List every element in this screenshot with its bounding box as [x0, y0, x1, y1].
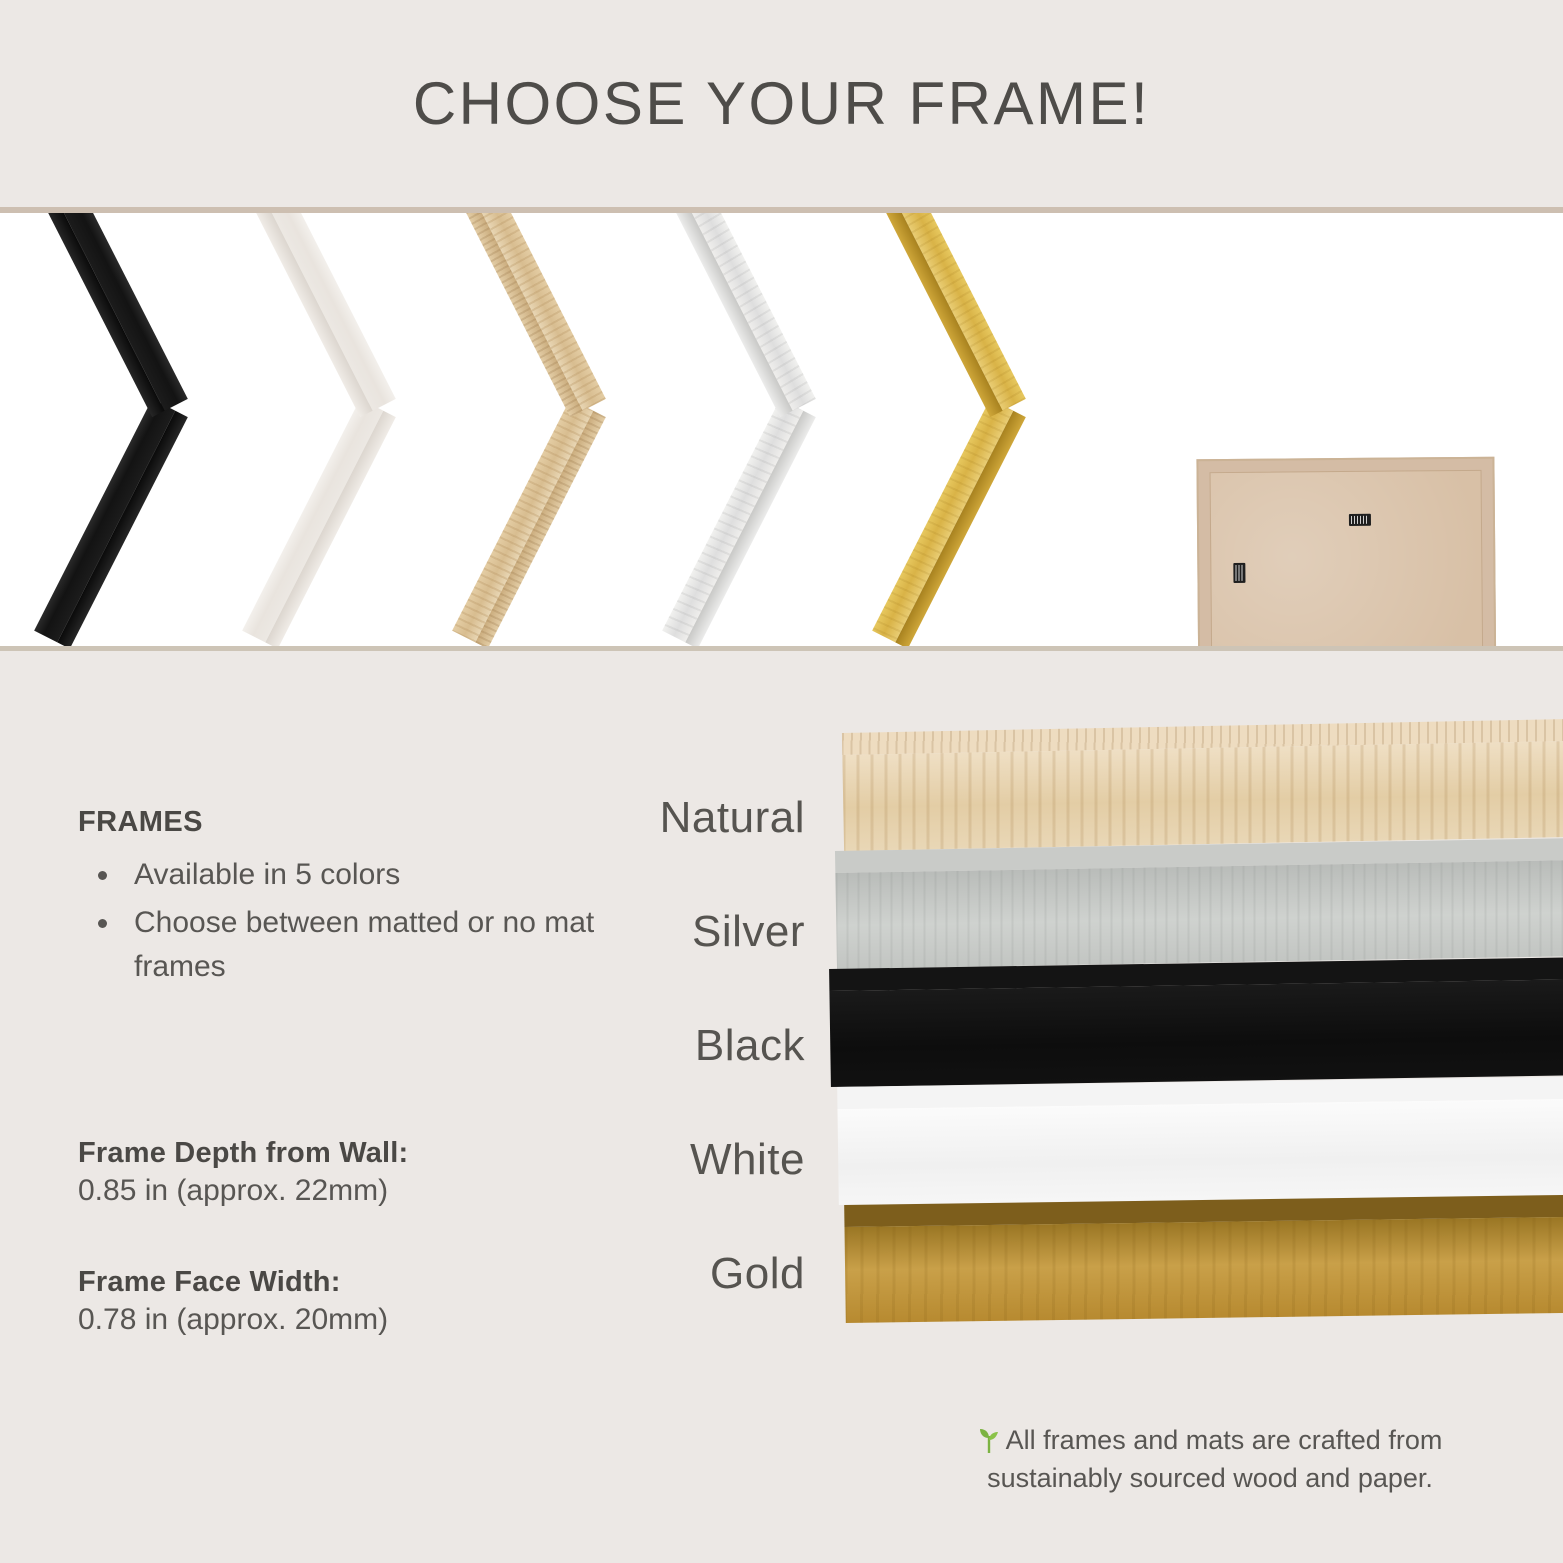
strip-front-face	[844, 1216, 1563, 1323]
sustainability-line-2: sustainably sourced wood and paper.	[987, 1463, 1433, 1493]
leaf-sprout-icon	[978, 1427, 1000, 1453]
leg-side	[475, 411, 606, 649]
moulding-strip-stack	[820, 733, 1563, 1403]
details-section: FRAMES Available in 5 colors Choose betw…	[0, 651, 1563, 1563]
spec-frame-depth: Frame Depth from Wall: 0.85 in (approx. …	[78, 1137, 598, 1208]
moulding-strip-silver[interactable]	[835, 838, 1563, 969]
corner-leg-lower	[34, 213, 188, 417]
color-label-black: Black	[560, 989, 805, 1103]
spec-label: Frame Face Width:	[78, 1266, 598, 1299]
frames-info-block: FRAMES Available in 5 colors Choose betw…	[78, 806, 598, 993]
list-item-label: Available in 5 colors	[134, 858, 400, 891]
strip-front-face	[842, 740, 1563, 851]
leg-side	[685, 411, 816, 649]
leg-side	[57, 411, 188, 649]
leg-side	[265, 411, 396, 649]
frames-heading: FRAMES	[78, 806, 598, 839]
strip-front-face	[837, 1098, 1563, 1205]
color-label-column: Natural Silver Black White Gold	[560, 761, 805, 1331]
frame-corner-samples	[0, 213, 1563, 650]
strip-front-face	[835, 860, 1563, 969]
line-1-wrapper: All frames and mats are crafted from	[978, 1425, 1443, 1455]
color-label-white: White	[560, 1103, 805, 1217]
leg-face	[34, 399, 175, 642]
corner-sample-black[interactable]	[60, 213, 280, 650]
corner-sample-natural[interactable]	[478, 213, 698, 650]
strip-front-face	[829, 979, 1563, 1087]
corner-sample-white[interactable]	[268, 213, 488, 650]
leg-side	[895, 411, 1026, 649]
page-title: CHOOSE YOUR FRAME!	[413, 69, 1150, 138]
list-item-label: Choose between matted or no mat frames	[134, 906, 594, 983]
sustainability-note: All frames and mats are crafted from sus…	[900, 1421, 1520, 1498]
sawtooth-hanger-icon	[1349, 514, 1371, 526]
spec-frame-face-width: Frame Face Width: 0.78 in (approx. 20mm)	[78, 1266, 598, 1337]
header-banner: CHOOSE YOUR FRAME!	[0, 0, 1563, 207]
corner-sample-silver[interactable]	[688, 213, 908, 650]
color-label-natural: Natural	[560, 761, 805, 875]
moulding-strip-black[interactable]	[829, 957, 1563, 1087]
list-item: Available in 5 colors	[78, 853, 598, 897]
color-label-gold: Gold	[560, 1217, 805, 1331]
frame-back-panel[interactable]	[1196, 457, 1497, 650]
bullet-dot-icon	[98, 871, 107, 880]
corner-sample-gold[interactable]	[898, 213, 1118, 650]
spec-value: 0.85 in (approx. 22mm)	[78, 1174, 598, 1208]
moulding-strip-gold[interactable]	[844, 1194, 1563, 1323]
spec-value: 0.78 in (approx. 20mm)	[78, 1303, 598, 1337]
hanger-bracket-icon	[1233, 563, 1245, 583]
moulding-strip-white[interactable]	[837, 1076, 1563, 1205]
sustainability-line-1: All frames and mats are crafted from	[1006, 1425, 1443, 1455]
list-item: Choose between matted or no mat frames	[78, 901, 598, 989]
corner-leg-upper	[34, 399, 188, 649]
frames-bullet-list: Available in 5 colors Choose between mat…	[78, 853, 598, 989]
bullet-dot-icon	[98, 919, 107, 928]
moulding-strip-natural[interactable]	[842, 718, 1563, 851]
color-label-silver: Silver	[560, 875, 805, 989]
frame-backing-board	[1210, 470, 1485, 650]
spec-label: Frame Depth from Wall:	[78, 1137, 598, 1170]
